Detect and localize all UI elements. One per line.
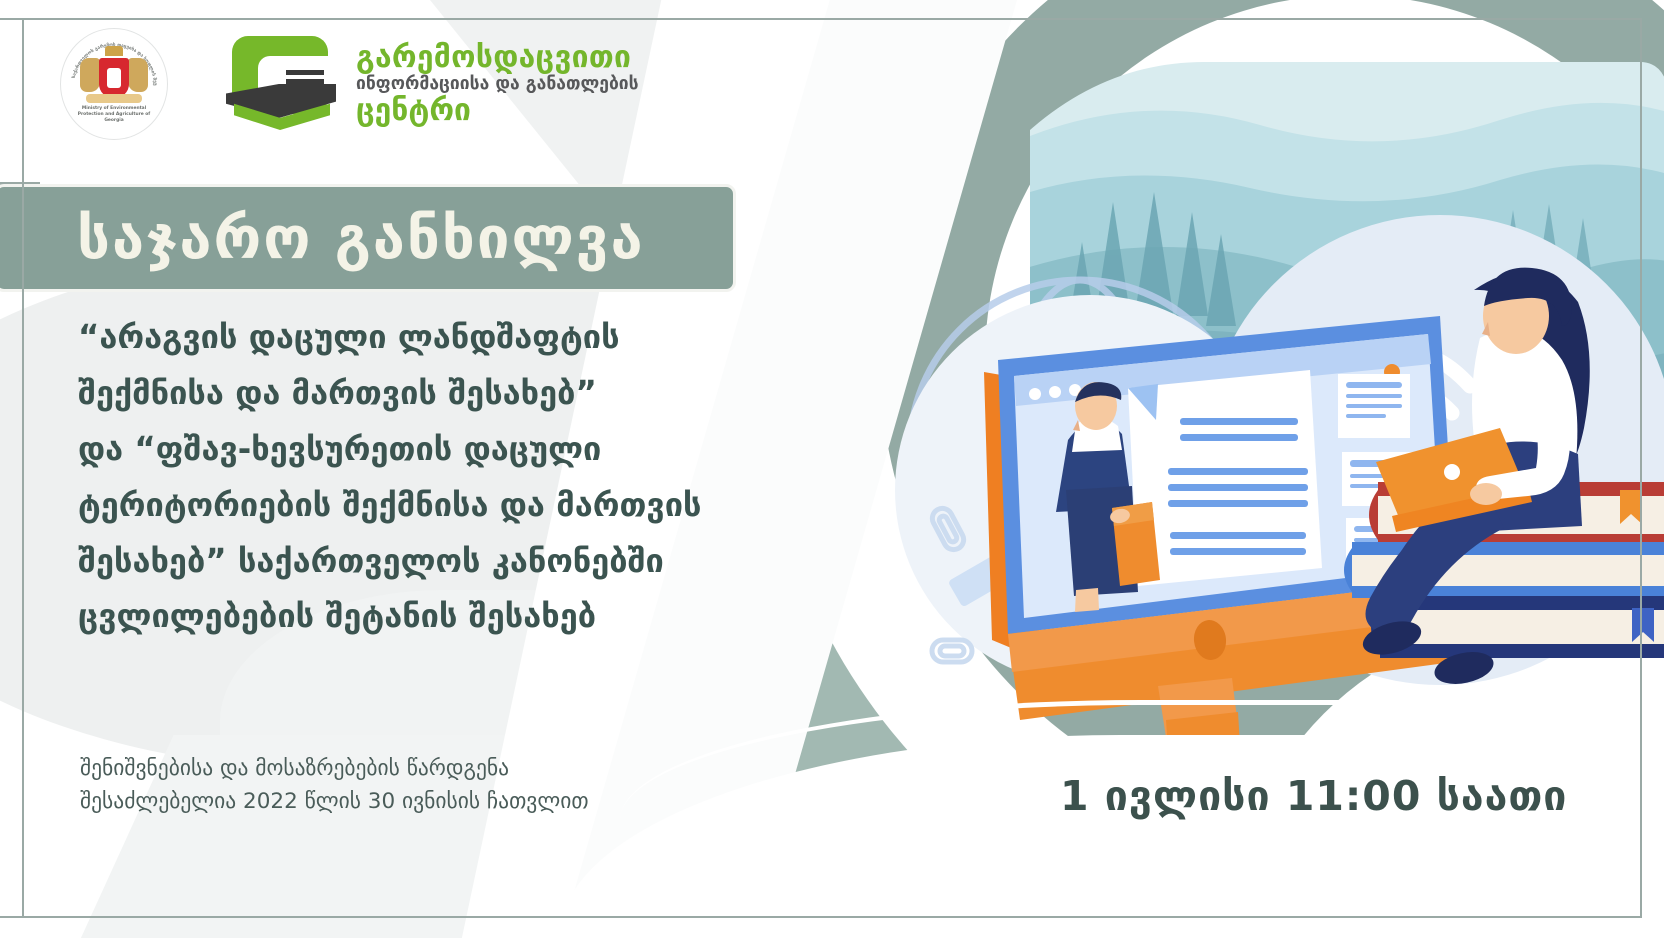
header-logos: საქართველოს გარემოს დაცვისა და სოფლის მე… bbox=[60, 28, 639, 140]
emblem-crown bbox=[105, 46, 123, 56]
center-logo: გარემოსდაცვითი ინფორმაციისა და განათლები… bbox=[224, 34, 639, 134]
submission-note: შენიშვნებისა და მოსაზრებების წარდგენა შე… bbox=[80, 752, 720, 819]
body-line: ტერიტორიების შექმნისა და მართვის bbox=[78, 478, 718, 534]
frame-bottom-extension bbox=[0, 916, 30, 918]
body-line: ცვლილებების შეტანის შესახებ bbox=[78, 589, 718, 645]
note-line: შენიშვნებისა და მოსაზრებების წარდგენა bbox=[80, 752, 720, 785]
body-line: და “ფშავ-ხევსურეთის დაცული bbox=[78, 422, 718, 478]
center-logo-line-1: გარემოსდაცვითი bbox=[356, 42, 639, 73]
note-line: შესაძლებელია 2022 წლის 30 ივნისის ჩათვლი… bbox=[80, 785, 720, 818]
book-open-logo-icon bbox=[224, 34, 342, 134]
emblem-shield bbox=[99, 58, 129, 98]
emblem-lion-left bbox=[80, 58, 100, 92]
logo-bar-2 bbox=[286, 79, 324, 84]
center-logo-line-2: ინფორმაციისა და განათლების bbox=[356, 75, 639, 93]
body-line: შექმნისა და მართვის შესახებ” bbox=[78, 366, 718, 422]
emblem-lion-right bbox=[128, 58, 148, 92]
center-logo-text: გარემოსდაცვითი ინფორმაციისა და განათლები… bbox=[356, 42, 639, 126]
body-copy: “არაგვის დაცული ლანდშაფტის შექმნისა და მ… bbox=[78, 310, 718, 645]
body-line: “არაგვის დაცული ლანდშაფტის bbox=[78, 310, 718, 366]
poster-canvas: საქართველოს გარემოს დაცვისა და სოფლის მე… bbox=[0, 0, 1664, 938]
event-datetime: 1 ივლისი 11:00 საათი bbox=[1060, 772, 1567, 820]
page-title: საჯარო განხილვა bbox=[77, 204, 645, 272]
emblem-scroll bbox=[86, 94, 142, 103]
illustration-online-consultation bbox=[880, 20, 1664, 750]
center-logo-line-3: ცენტრი bbox=[356, 95, 639, 126]
title-banner: საჯარო განხილვა bbox=[0, 184, 736, 292]
frame-top-extension bbox=[0, 18, 30, 20]
emblem-caption: Ministry of Environmental Protection and… bbox=[72, 106, 156, 124]
logo-bar-1 bbox=[286, 70, 324, 75]
ministry-emblem-icon: საქართველოს გარემოს დაცვისა და სოფლის მე… bbox=[60, 28, 168, 140]
body-line: შესახებ” საქართველოს კანონებში bbox=[78, 534, 718, 590]
